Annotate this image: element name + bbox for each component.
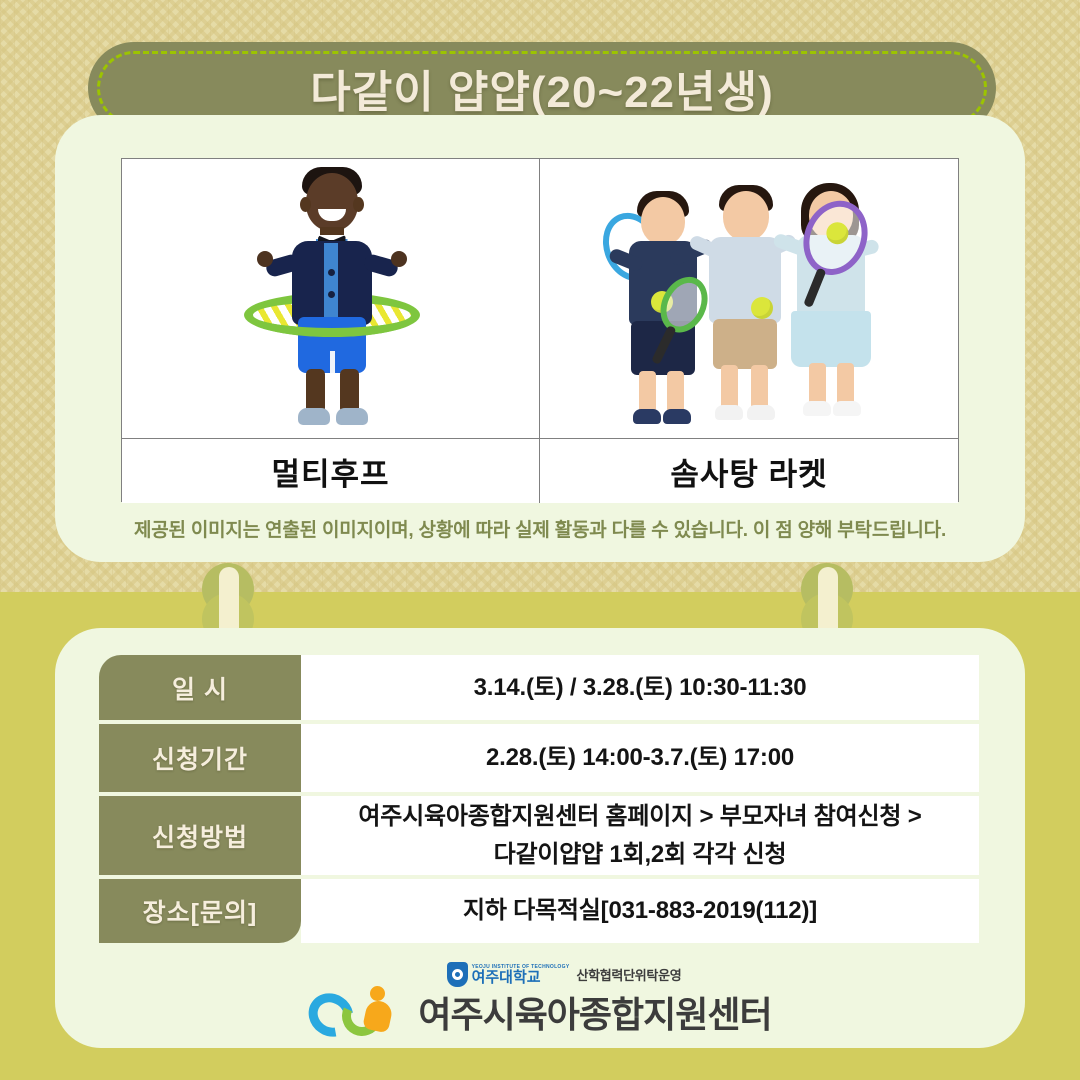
connector-pin-left bbox=[202, 563, 254, 615]
table-row: 신청기간 2.28.(토) 14:00-3.7.(토) 17:00 bbox=[99, 724, 979, 792]
center-name: 여주시육아종합지원센터 bbox=[418, 986, 771, 1038]
info-value-application-period: 2.28.(토) 14:00-3.7.(토) 17:00 bbox=[301, 724, 979, 792]
hula-hoop-boy-illustration bbox=[236, 165, 426, 433]
info-label-application-period: 신청기간 bbox=[99, 724, 301, 792]
info-value-datetime: 3.14.(토) / 3.28.(토) 10:30-11:30 bbox=[301, 655, 979, 720]
info-label-location-contact: 장소[문의] bbox=[99, 879, 301, 943]
info-label-datetime: 일 시 bbox=[99, 655, 301, 720]
info-value-location-contact: 지하 다목적실[031-883-2019(112)] bbox=[301, 879, 979, 943]
page-title: 다같이 얍얍(20~22년생) bbox=[310, 56, 773, 120]
tennis-kids-illustration bbox=[599, 173, 899, 431]
center-logo-icon bbox=[308, 984, 404, 1040]
activity-label-multihoop: 멀티후프 bbox=[122, 439, 540, 503]
activities-photo-table: 멀티후프 솜사탕 라켓 bbox=[121, 158, 959, 502]
activity-label-cotton-candy-racket: 솜사탕 라켓 bbox=[540, 439, 958, 503]
tennis-ball-icon bbox=[751, 297, 773, 319]
info-label-application-method: 신청방법 bbox=[99, 796, 301, 875]
operation-note: 산학협력단위탁운영 bbox=[576, 965, 681, 984]
table-row: 장소[문의] 지하 다목적실[031-883-2019(112)] bbox=[99, 879, 979, 943]
application-method-line-1: 여주시육아종합지원센터 홈페이지 > 부모자녀 참여신청 > bbox=[358, 798, 921, 835]
application-method-line-2: 다같이얍얍 1회,2회 각각 신청 bbox=[358, 836, 921, 873]
connector-pin-right bbox=[801, 563, 853, 615]
info-value-application-method: 여주시육아종합지원센터 홈페이지 > 부모자녀 참여신청 > 다같이얍얍 1회,… bbox=[301, 796, 979, 875]
university-name: 여주대학교 bbox=[472, 970, 570, 985]
poster-root: 다같이 얍얍(20~22년생) bbox=[0, 0, 1080, 1080]
program-info-table: 일 시 3.14.(토) / 3.28.(토) 10:30-11:30 신청기간… bbox=[99, 655, 979, 943]
table-row: 신청방법 여주시육아종합지원센터 홈페이지 > 부모자녀 참여신청 > 다같이얍… bbox=[99, 796, 979, 875]
activity-photo-cotton-candy-racket bbox=[540, 159, 958, 439]
tennis-kid-2 bbox=[697, 185, 793, 431]
activity-photo-multihoop bbox=[122, 159, 540, 439]
table-row: 일 시 3.14.(토) / 3.28.(토) 10:30-11:30 bbox=[99, 655, 979, 720]
footer-logo-block: YEOJU INSTITUTE OF TECHNOLOGY 여주대학교 산학협력… bbox=[0, 962, 1080, 1052]
disclaimer-text: 제공된 이미지는 연출된 이미지이며, 상황에 따라 실제 활동과 다를 수 있… bbox=[55, 515, 1025, 542]
footer-center-line: 여주시육아종합지원센터 bbox=[0, 984, 1080, 1040]
